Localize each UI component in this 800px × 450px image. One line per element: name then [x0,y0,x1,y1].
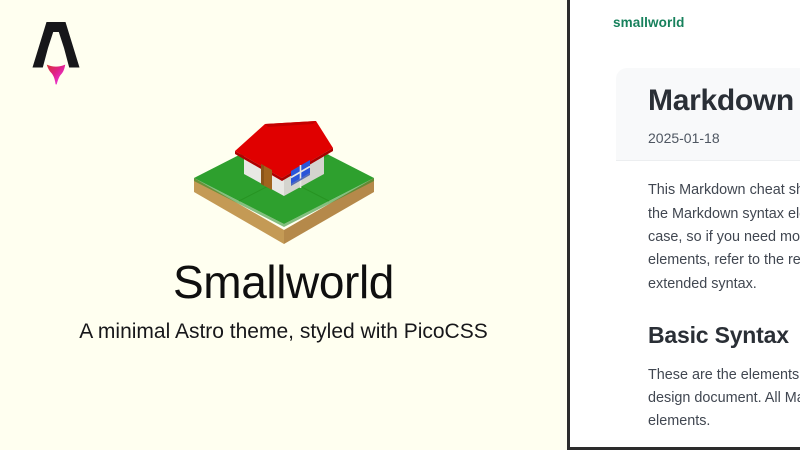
section-heading-basic-syntax: Basic Syntax [648,322,800,350]
page-title: Smallworld [173,258,394,306]
article-date: 2025-01-18 [648,130,800,147]
site-preview-viewport: smallworld Markdown Cheat Sheet 2025-01-… [570,0,800,450]
intro-text-before-link: This Markdown cheat sheet provides a qui… [648,182,800,268]
screenshot-root: Smallworld A minimal Astro theme, styled… [0,0,800,450]
site-brand-link[interactable]: smallworld [613,15,685,30]
isometric-house-illustration [189,120,379,250]
hero-panel: Smallworld A minimal Astro theme, styled… [0,0,567,450]
article-card-body: This Markdown cheat sheet provides a qui… [616,161,800,450]
hero-content: Smallworld A minimal Astro theme, styled… [0,0,567,450]
section-paragraph: These are the elements outlined in John … [648,364,800,434]
site-preview-frame: smallworld Markdown Cheat Sheet 2025-01-… [567,0,800,450]
article-title: Markdown Cheat Sheet [648,84,800,119]
site-nav: smallworld [613,14,685,32]
article-card-header: Markdown Cheat Sheet 2025-01-18 [616,68,800,161]
page-subtitle: A minimal Astro theme, styled with PicoC… [79,319,488,344]
article-intro-paragraph: This Markdown cheat sheet provides a qui… [648,179,800,296]
article-card: Markdown Cheat Sheet 2025-01-18 This Mar… [616,68,800,450]
